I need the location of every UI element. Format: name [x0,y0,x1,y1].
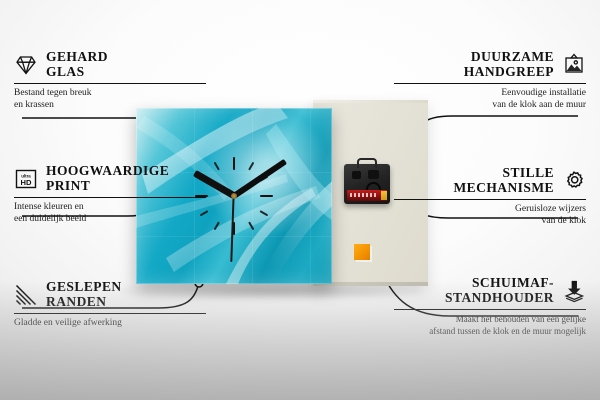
feature-title-line2: MECHANISME [453,181,554,196]
feature-title-line2: HANDGREEP [464,65,554,80]
feature-gehard-glas: GEHARD GLAS Bestand tegen breuk en krass… [14,50,206,111]
feature-desc-line2: afstand tussen de klok en de muur mogeli… [394,326,586,338]
ultra-hd-icon: ultra HD [14,167,38,191]
feature-desc-line1: Eenvoudige installatie [394,88,586,100]
feature-rule [394,199,586,200]
feature-desc-line1: Intense kleuren en [14,202,206,214]
mechanism-knob [352,171,361,179]
feature-title-line1: GESLEPEN [46,280,122,295]
feature-hoogwaardige-print: ultra HD HOOGWAARDIGE PRINT Intense kleu… [14,164,206,225]
feature-title-line2: GLAS [46,65,108,80]
feature-rule [14,197,206,198]
feature-duurzame-handgreep: DUURZAME HANDGREEP Eenvoudige installati… [394,50,586,111]
clock-mechanism [344,164,390,204]
feature-title-line1: DUURZAME [464,50,554,65]
diagonal-lines-icon [14,283,38,307]
arrow-into-stack-icon [562,279,586,303]
gear-icon [562,169,586,193]
feature-title-line1: GEHARD [46,50,108,65]
feature-geslepen-randen: GESLEPEN RANDEN Gladde en veilige afwerk… [14,280,206,330]
picture-frame-hanger-icon [562,53,586,77]
feature-title-line1: STILLE [453,166,554,181]
feature-desc-line1: Gladde en veilige afwerking [14,318,206,330]
feature-desc-line1: Maakt het behouden van een gelijke [394,314,586,326]
feature-rule [394,309,586,310]
hanger-loop-icon [357,158,377,168]
feature-stille-mechanisme: STILLE MECHANISME Geruisloze wijzers van… [394,166,586,227]
feature-title-line1: HOOGWAARDIGE [46,164,169,179]
feature-title-line2: RANDEN [46,295,122,310]
feature-desc-line2: van de klok aan de muur [394,100,586,112]
feature-schuimafstandhouder: SCHUIMAF- STANDHOUDER Maakt het behouden… [394,276,586,337]
feature-rule [394,83,586,84]
feature-desc-line2: een duidelijk beeld [14,214,206,226]
battery-label [350,193,376,197]
infographic-stage: GEHARD GLAS Bestand tegen breuk en krass… [0,0,600,400]
aa-battery [347,190,387,201]
feature-desc-line1: Geruisloze wijzers [394,204,586,216]
feature-desc-line2: van de klok [394,216,586,228]
feature-desc-line1: Bestand tegen breuk [14,88,206,100]
diamond-icon [14,53,38,77]
feature-title-line2: STANDHOUDER [445,291,554,306]
feature-title-line2: PRINT [46,179,169,194]
feature-desc-line2: en krassen [14,100,206,112]
foam-spacer-pad [354,244,370,260]
feature-rule [14,83,206,84]
feature-rule [14,313,206,314]
feature-title-line1: SCHUIMAF- [445,276,554,291]
clock-center-cap [231,193,237,199]
svg-text:HD: HD [21,178,32,187]
mechanism-knob-secondary [368,170,379,179]
